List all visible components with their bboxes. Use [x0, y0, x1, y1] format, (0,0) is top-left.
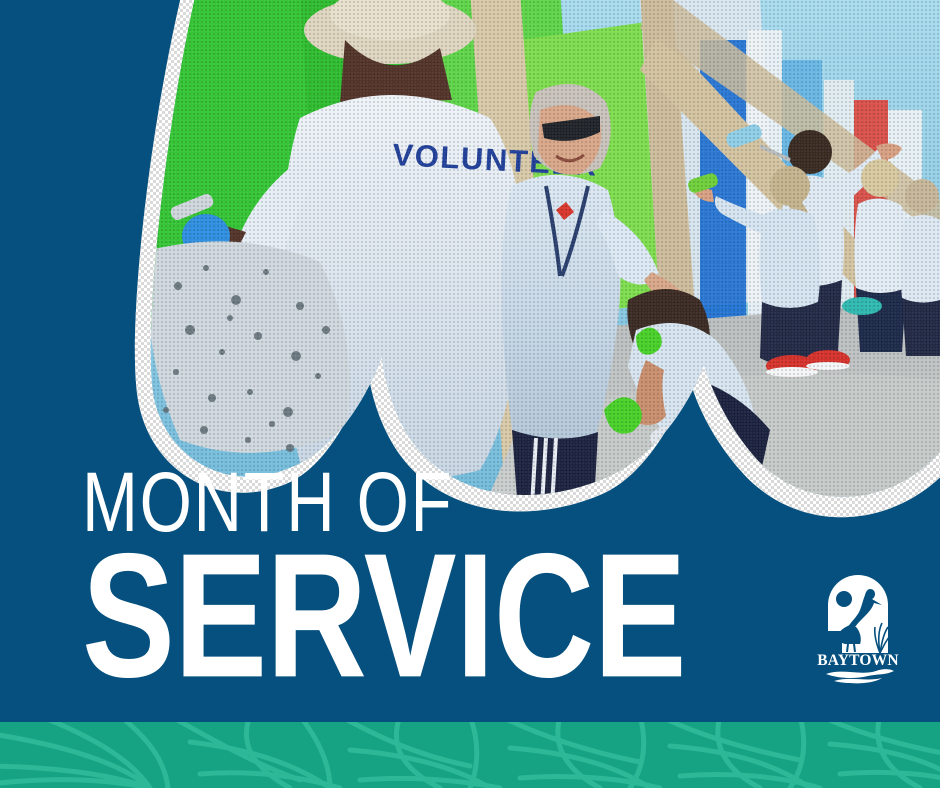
page-title: MONTH OF SERVICE [82, 466, 802, 684]
poster-canvas: VOLUNTEER [0, 0, 940, 788]
footer-leaf-texture [0, 722, 940, 788]
logo-wordmark: BAYTOWN [817, 652, 899, 669]
headline-line-2: SERVICE [82, 546, 672, 687]
baytown-logo: BAYTOWN [812, 575, 904, 685]
